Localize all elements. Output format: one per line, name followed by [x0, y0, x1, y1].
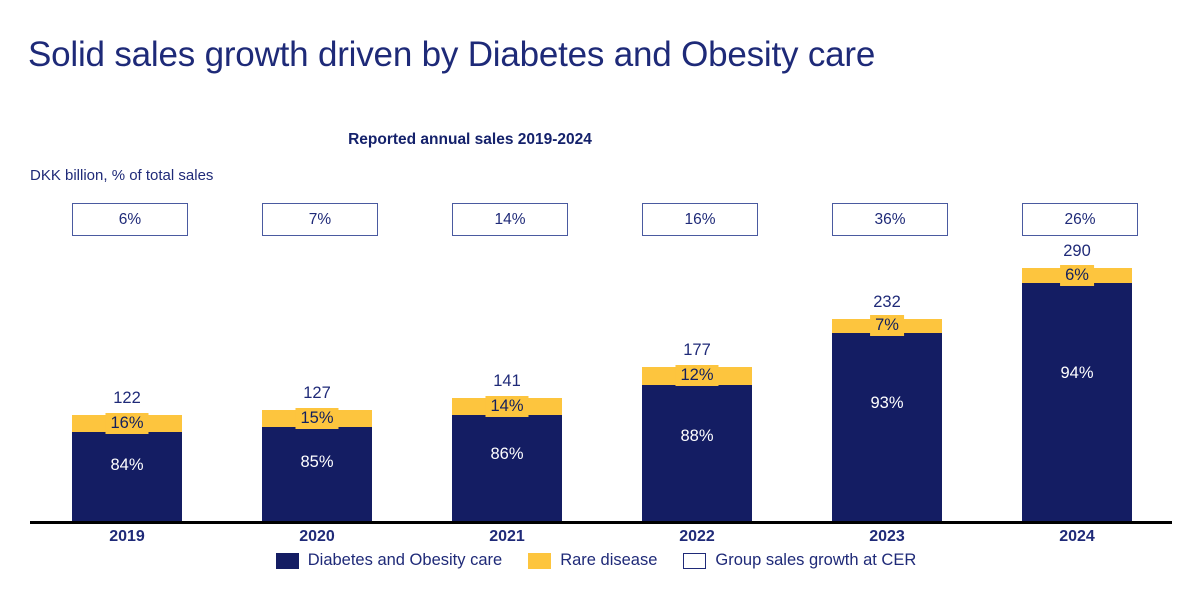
bar-segment-diabetes-obesity-2021[interactable] — [452, 415, 562, 521]
x-axis-line — [30, 521, 1172, 524]
bar-segment-diabetes-obesity-2022[interactable] — [642, 385, 752, 521]
bar-total-label-2020: 127 — [262, 384, 372, 403]
legend-label: Diabetes and Obesity care — [308, 551, 502, 570]
x-tick-label-2023: 2023 — [832, 528, 942, 546]
x-tick-label-2019: 2019 — [72, 528, 182, 546]
bar-total-label-2023: 232 — [832, 293, 942, 312]
bar-label-diabetes-obesity-2020: 85% — [262, 453, 372, 472]
bar-label-diabetes-obesity-2019: 84% — [72, 456, 182, 475]
x-tick-label-2024: 2024 — [1022, 528, 1132, 546]
legend-label: Rare disease — [560, 551, 657, 570]
bar-label-diabetes-obesity-2021: 86% — [452, 445, 562, 464]
bar-total-label-2021: 141 — [452, 372, 562, 391]
bar-group-2023[interactable]: 23293%7% — [832, 0, 942, 521]
legend-label: Group sales growth at CER — [715, 551, 916, 570]
bar-label-rare-disease-2023: 7% — [870, 315, 904, 336]
legend-swatch-rare-icon — [528, 553, 551, 569]
bar-segment-diabetes-obesity-2020[interactable] — [262, 427, 372, 521]
bar-label-diabetes-obesity-2024: 94% — [1022, 364, 1132, 383]
legend-swatch-diabetes-icon — [276, 553, 299, 569]
bar-label-rare-disease-2024: 6% — [1060, 265, 1094, 286]
bar-segment-diabetes-obesity-2024[interactable] — [1022, 283, 1132, 521]
bar-group-2019[interactable]: 12284%16% — [72, 0, 182, 521]
bar-group-2022[interactable]: 17788%12% — [642, 0, 752, 521]
bar-segment-diabetes-obesity-2019[interactable] — [72, 432, 182, 521]
legend-swatch-growth-icon — [683, 553, 706, 569]
chart-legend: Diabetes and Obesity careRare diseaseGro… — [0, 551, 1202, 570]
legend-item-rare[interactable]: Rare disease — [528, 551, 657, 570]
bar-label-rare-disease-2020: 15% — [295, 408, 338, 429]
bar-label-diabetes-obesity-2023: 93% — [832, 394, 942, 413]
bar-total-label-2022: 177 — [642, 341, 752, 360]
bar-group-2020[interactable]: 12785%15% — [262, 0, 372, 521]
bar-label-rare-disease-2021: 14% — [485, 396, 528, 417]
bar-group-2021[interactable]: 14186%14% — [452, 0, 562, 521]
bar-label-rare-disease-2022: 12% — [675, 365, 718, 386]
legend-item-growth[interactable]: Group sales growth at CER — [683, 551, 916, 570]
legend-item-diabetes[interactable]: Diabetes and Obesity care — [276, 551, 502, 570]
bar-group-2024[interactable]: 29094%6% — [1022, 0, 1132, 521]
bar-label-diabetes-obesity-2022: 88% — [642, 427, 752, 446]
x-tick-label-2021: 2021 — [452, 528, 562, 546]
bar-total-label-2019: 122 — [72, 389, 182, 408]
bar-total-label-2024: 290 — [1022, 242, 1132, 261]
bar-chart-plot-area: 6%7%14%16%36%26% 12284%16%12785%15%14186… — [0, 0, 1202, 593]
x-tick-label-2022: 2022 — [642, 528, 752, 546]
bar-label-rare-disease-2019: 16% — [105, 413, 148, 434]
x-tick-label-2020: 2020 — [262, 528, 372, 546]
bar-segment-diabetes-obesity-2023[interactable] — [832, 333, 942, 521]
